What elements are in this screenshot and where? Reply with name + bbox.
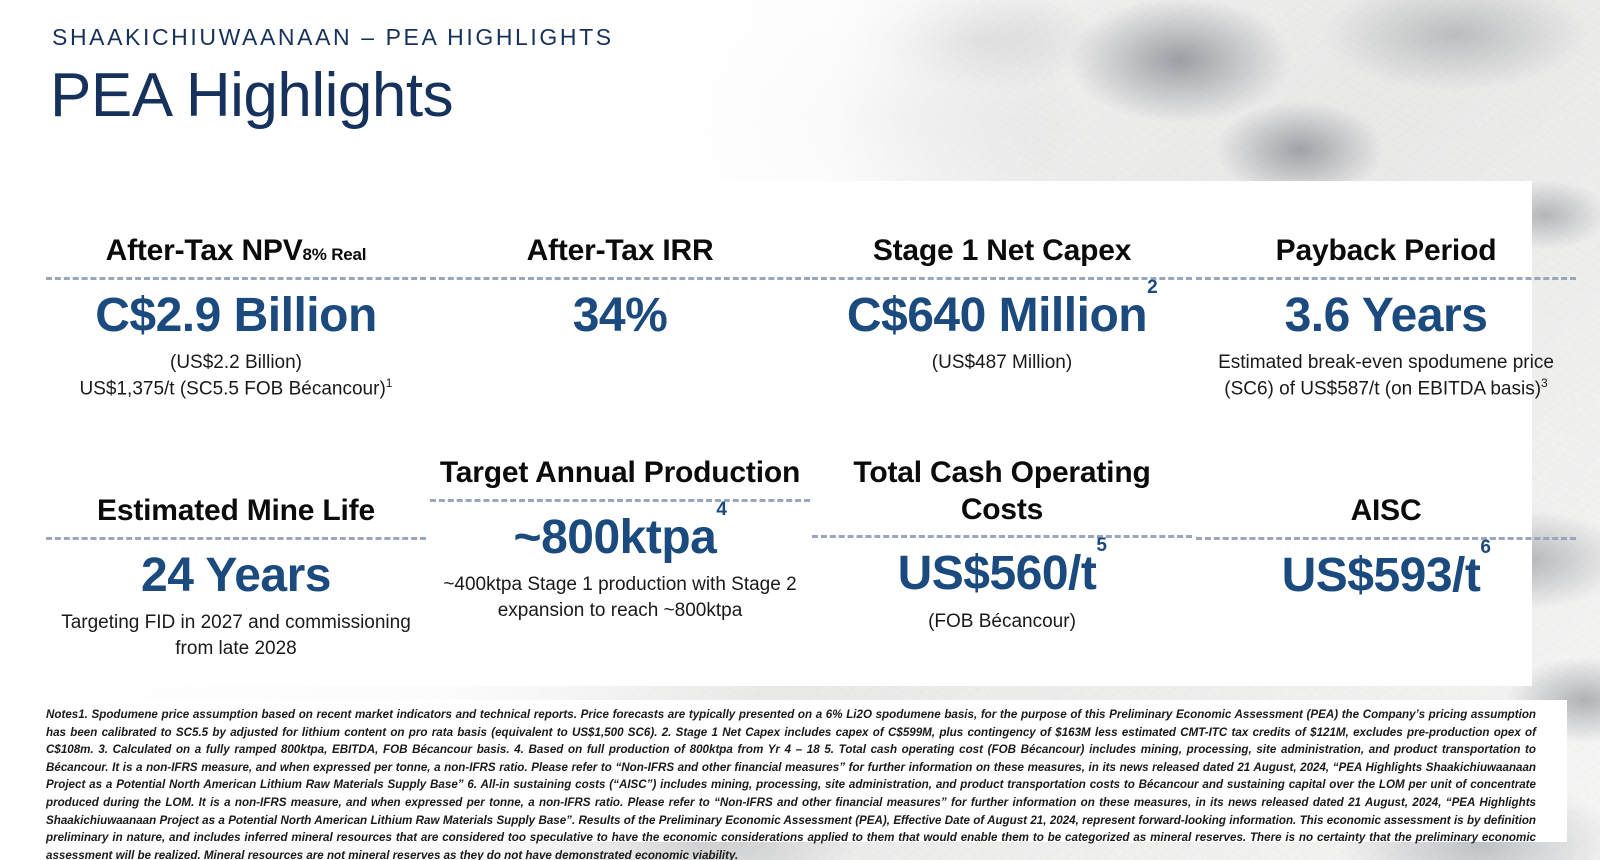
metric-note-payback: Estimated break-even spodumene price (SC…	[1196, 350, 1576, 401]
metric-title-mine-life: Estimated Mine Life	[46, 493, 426, 530]
metric-value-production: ~800ktpa4	[430, 512, 810, 565]
metric-value-superscript: 2	[1147, 277, 1157, 298]
page-title: PEA Highlights	[50, 62, 453, 130]
metric-divider	[430, 499, 810, 502]
metric-divider	[430, 277, 810, 280]
metric-value-irr: 34%	[430, 290, 810, 343]
metric-value-superscript: 4	[716, 499, 726, 520]
metric-divider	[1196, 277, 1576, 280]
metric-value-capex: C$640 Million2	[812, 290, 1192, 343]
metric-title-sub-npv: 8% Real	[303, 245, 367, 264]
metric-value-superscript: 5	[1096, 535, 1106, 556]
metric-divider	[812, 535, 1192, 538]
metric-value-superscript: 6	[1480, 537, 1490, 558]
slide-eyebrow: SHAAKICHIUWAANAAN – PEA HIGHLIGHTS	[52, 24, 614, 51]
metric-title-npv: After-Tax NPV8% Real	[46, 233, 426, 270]
metric-note-mine-life: Targeting FID in 2027 and commissioning …	[46, 610, 426, 661]
footnotes-panel: Notes1. Spodumene price assumption based…	[0, 700, 1567, 842]
metric-note-superscript: 3	[1541, 376, 1548, 390]
metric-divider	[812, 277, 1192, 280]
metric-note-capex: (US$487 Million)	[812, 350, 1192, 375]
metric-title-capex: Stage 1 Net Capex	[812, 233, 1192, 270]
metric-title-production: Target Annual Production	[430, 455, 810, 492]
metric-divider	[46, 277, 426, 280]
metric-card-target-annual-production: Target Annual Production ~800ktpa4 ~400k…	[430, 455, 810, 623]
metric-divider	[46, 537, 426, 540]
metric-card-total-cash-operating-costs: Total Cash Operating Costs US$560/t5 (FO…	[812, 455, 1192, 634]
metric-title-aisc: AISC	[1196, 493, 1576, 530]
metric-card-npv: After-Tax NPV8% Real C$2.9 Billion (US$2…	[46, 233, 426, 401]
metric-value-mine-life: 24 Years	[46, 550, 426, 603]
metric-title-irr: After-Tax IRR	[430, 233, 810, 270]
metric-note-superscript: 1	[386, 376, 393, 390]
metric-card-payback-period: Payback Period 3.6 Years Estimated break…	[1196, 233, 1576, 401]
footnotes-text: Notes1. Spodumene price assumption based…	[46, 706, 1536, 860]
metric-card-aisc: AISC US$593/t6	[1196, 493, 1576, 602]
metric-card-irr: After-Tax IRR 34%	[430, 233, 810, 342]
metric-note-production: ~400ktpa Stage 1 production with Stage 2…	[430, 572, 810, 623]
metric-title-operating-costs: Total Cash Operating Costs	[812, 455, 1192, 528]
metric-value-operating-costs: US$560/t5	[812, 548, 1192, 601]
slide-root: SHAAKICHIUWAANAAN – PEA HIGHLIGHTS PEA H…	[0, 0, 1600, 860]
metric-note-operating-costs: (FOB Bécancour)	[812, 609, 1192, 634]
metric-value-aisc: US$593/t6	[1196, 550, 1576, 603]
metric-value-npv: C$2.9 Billion	[46, 290, 426, 343]
metric-note-npv: (US$2.2 Billion) US$1,375/t (SC5.5 FOB B…	[46, 350, 426, 401]
metric-value-payback: 3.6 Years	[1196, 290, 1576, 343]
metric-card-stage1-net-capex: Stage 1 Net Capex C$640 Million2 (US$487…	[812, 233, 1192, 376]
metric-title-payback: Payback Period	[1196, 233, 1576, 270]
metric-divider	[1196, 537, 1576, 540]
metric-card-estimated-mine-life: Estimated Mine Life 24 Years Targeting F…	[46, 493, 426, 661]
metrics-grid: After-Tax NPV8% Real C$2.9 Billion (US$2…	[0, 181, 1532, 686]
